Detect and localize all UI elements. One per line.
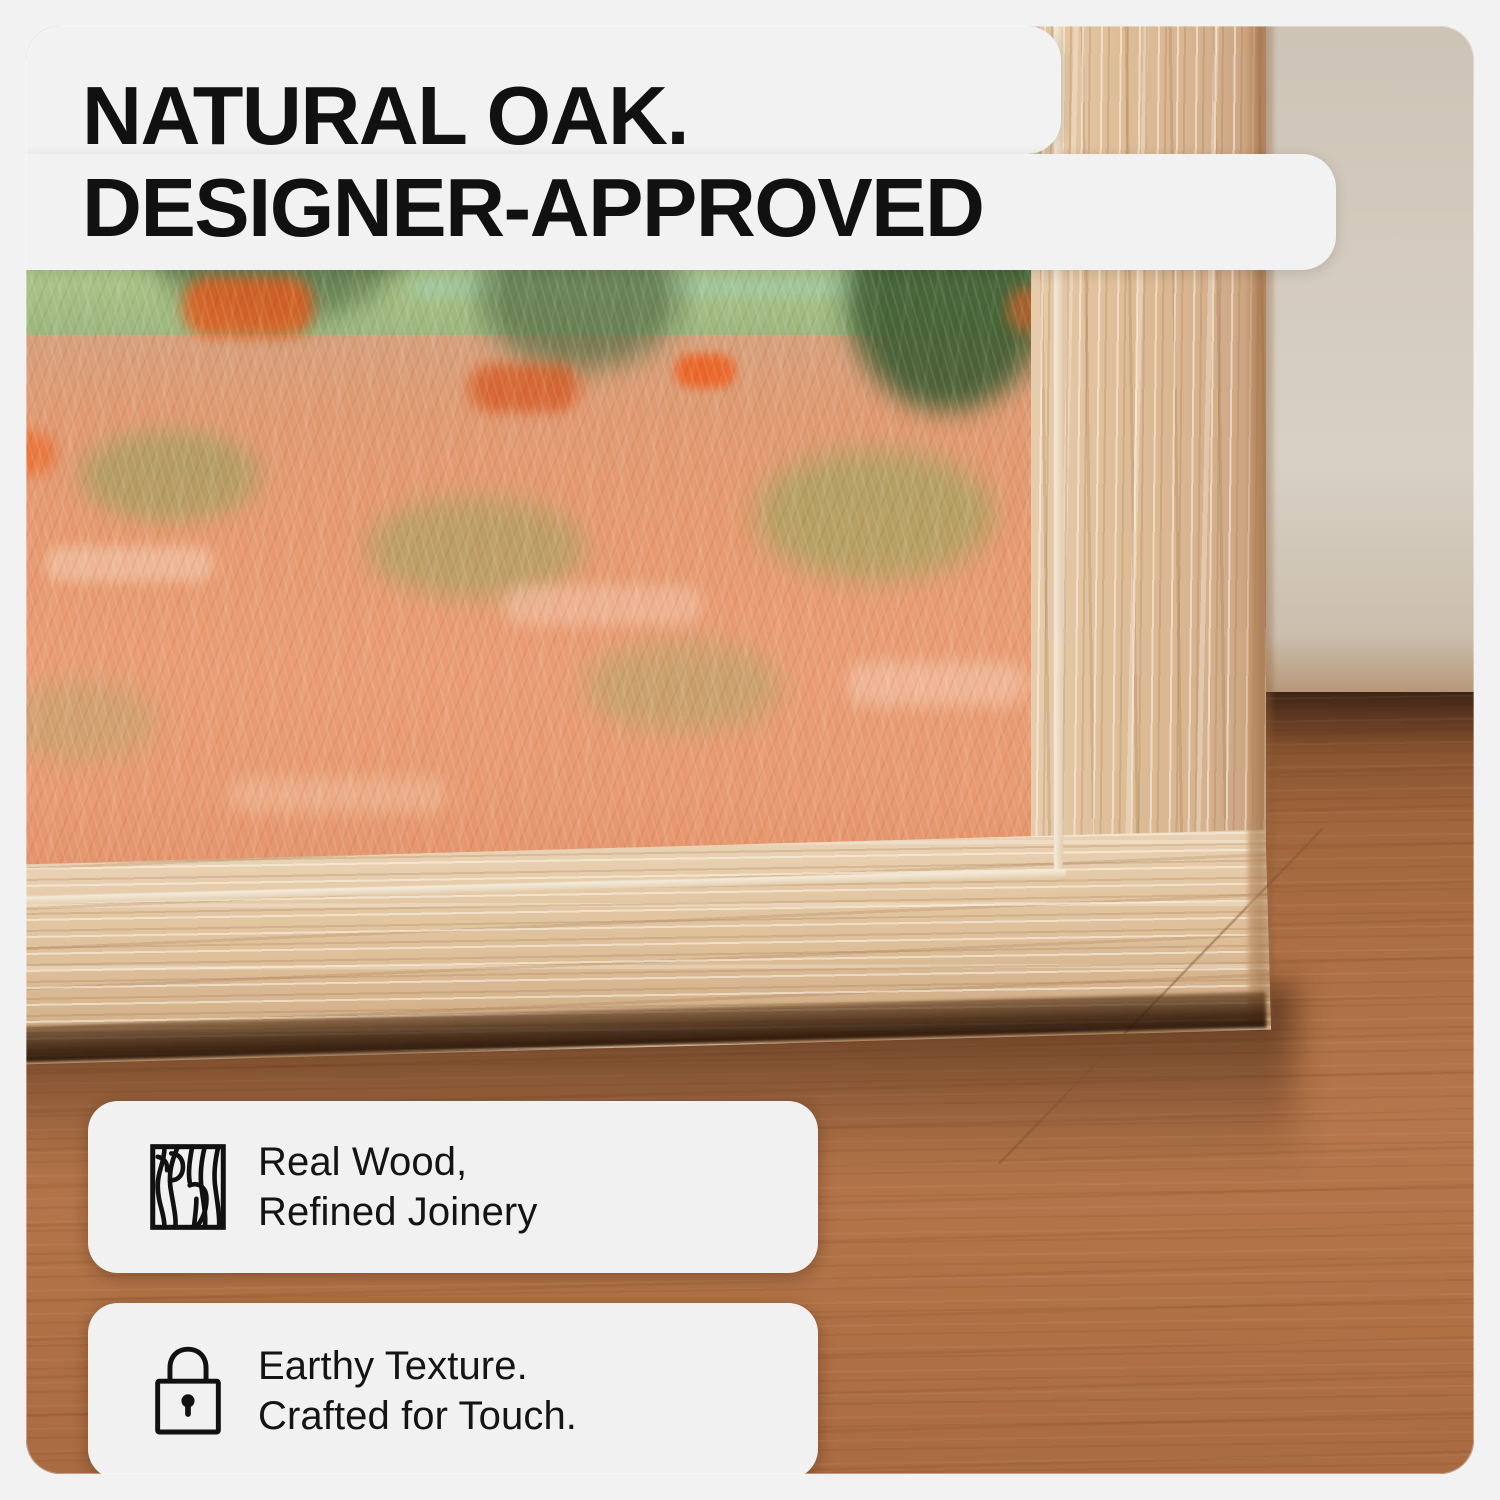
- product-photo: NATURAL OAK. DESIGNER-APPROVED: [26, 26, 1474, 1474]
- feature-badge-text-2: Earthy Texture. Crafted for Touch.: [258, 1341, 577, 1441]
- feature-badge-text-1: Real Wood, Refined Joinery: [258, 1137, 537, 1237]
- feature-badge-real-wood[interactable]: Real Wood, Refined Joinery: [88, 1101, 818, 1273]
- headline-panel-row2: [26, 154, 1336, 270]
- feature-2-line-1: Earthy Texture.: [258, 1344, 528, 1388]
- wood-grain-icon: [140, 1137, 236, 1237]
- feature-badge-earthy-texture[interactable]: Earthy Texture. Crafted for Touch.: [88, 1303, 818, 1474]
- padlock-icon: [140, 1341, 236, 1441]
- product-image-stage: NATURAL OAK. DESIGNER-APPROVED: [0, 0, 1500, 1500]
- feature-1-line-1: Real Wood,: [258, 1140, 467, 1184]
- feature-2-line-2: Crafted for Touch.: [258, 1391, 577, 1441]
- headline-panel-row1: [26, 26, 1061, 154]
- feature-1-line-2: Refined Joinery: [258, 1187, 537, 1237]
